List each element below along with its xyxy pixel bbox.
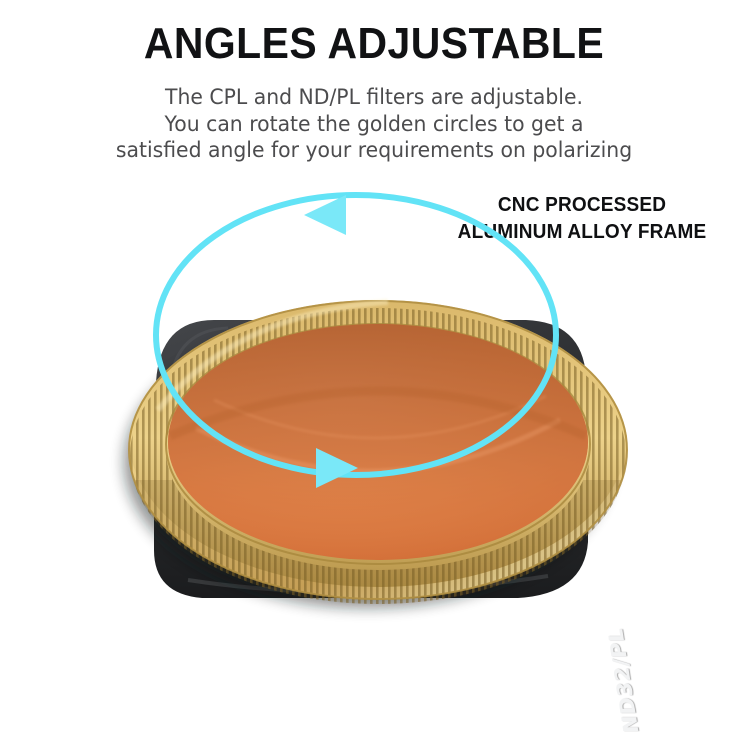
marketing-image-canvas: ANGLES ADJUSTABLE The CPL and ND/PL filt… [0, 0, 748, 655]
page-title: ANGLES ADJUSTABLE [26, 18, 722, 70]
subtitle-line-1: The CPL and ND/PL filters are adjustable… [11, 84, 737, 111]
subtitle-line-3: satisfied angle for your requirements on… [11, 137, 737, 164]
arrow-left-icon [304, 195, 346, 235]
model-label: ND32/PL [603, 628, 643, 733]
callout-line-1: CNC PROCESSED [440, 192, 725, 219]
feature-callout: CNC PROCESSED ALUMINUM ALLOY FRAME [440, 192, 725, 246]
subtitle-line-2: You can rotate the golden circles to get… [11, 111, 737, 138]
callout-line-2: ALUMINUM ALLOY FRAME [440, 219, 725, 246]
subtitle-paragraph: The CPL and ND/PL filters are adjustable… [0, 84, 748, 164]
product-illustration: ND32/PL [118, 250, 638, 640]
filter-glass [168, 324, 588, 560]
